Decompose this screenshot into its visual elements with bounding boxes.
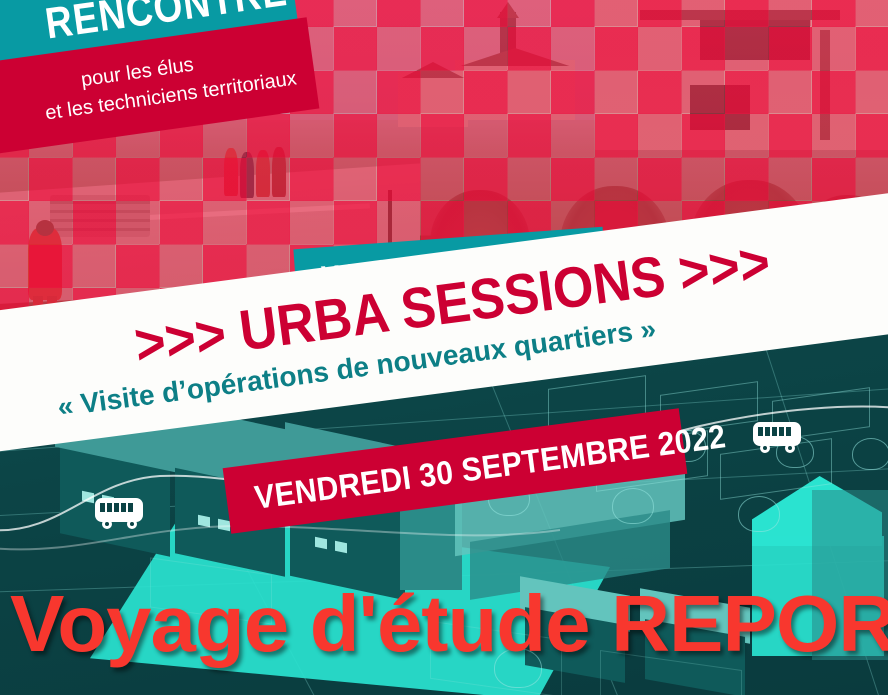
bus-icon bbox=[750, 418, 808, 458]
bus-icon bbox=[92, 494, 150, 534]
status-headline: Voyage d'étude REPORTE bbox=[10, 578, 888, 670]
chevrons-left: >>> bbox=[131, 302, 230, 377]
chevrons-right: >>> bbox=[675, 231, 774, 306]
poster-root: VOYAGE D’ÉTUDE >>> URBA SESSIONS >>> « V… bbox=[0, 0, 888, 695]
